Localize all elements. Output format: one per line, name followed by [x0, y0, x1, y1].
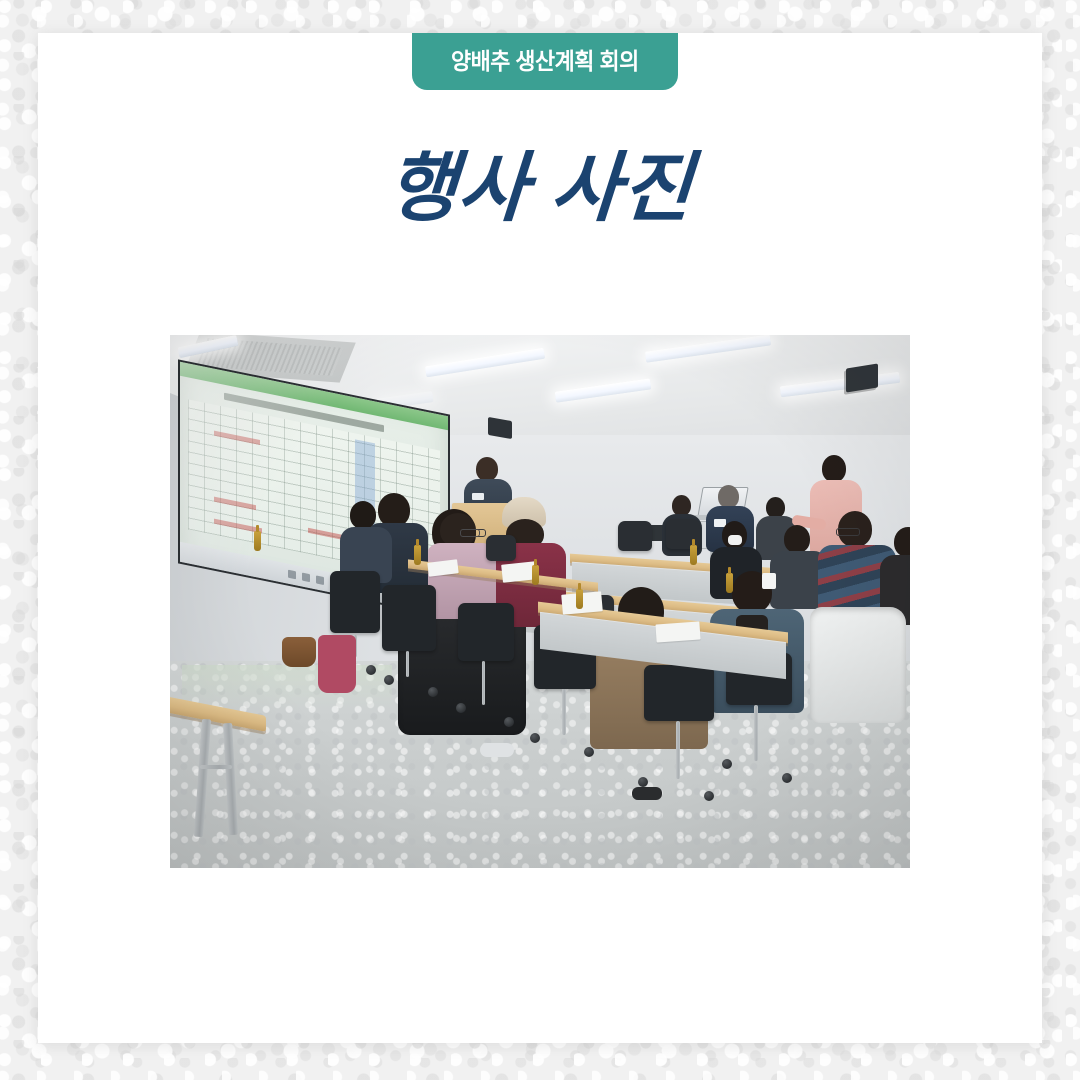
section-banner-label: 양배추 생산계획 회의	[451, 50, 639, 73]
wall-speaker-icon	[846, 363, 878, 392]
section-banner: 양배추 생산계획 회의	[412, 33, 678, 90]
photo-scene	[170, 335, 910, 868]
event-photo	[170, 335, 910, 868]
content-card: 양배추 생산계획 회의 행사 사진	[38, 33, 1042, 1043]
ceiling-light	[425, 348, 545, 378]
table-crossbar	[200, 765, 232, 769]
office-chair	[458, 603, 514, 661]
beverage-bottle	[690, 545, 697, 565]
shoe	[480, 743, 514, 757]
handbag	[318, 635, 356, 693]
office-chair	[644, 665, 714, 721]
white-puffer-coat	[810, 607, 906, 723]
beverage-bottle	[532, 565, 539, 585]
office-chair	[382, 585, 436, 651]
office-chair	[618, 521, 652, 551]
shoe	[632, 787, 662, 800]
beverage-bottle	[726, 573, 733, 593]
ceiling-light	[555, 378, 652, 402]
paper-cup	[762, 573, 776, 589]
ceiling-light	[780, 372, 900, 398]
floor-tint	[182, 665, 392, 711]
handbag	[282, 637, 316, 667]
office-chair	[486, 535, 516, 561]
beverage-bottle	[576, 589, 583, 609]
document	[655, 621, 700, 642]
page-title: 행사 사진	[38, 151, 1042, 227]
presenter-head	[476, 457, 498, 481]
ceiling-light	[645, 335, 771, 363]
office-chair	[330, 571, 380, 633]
beverage-bottle	[254, 531, 261, 551]
beverage-bottle	[414, 545, 421, 565]
